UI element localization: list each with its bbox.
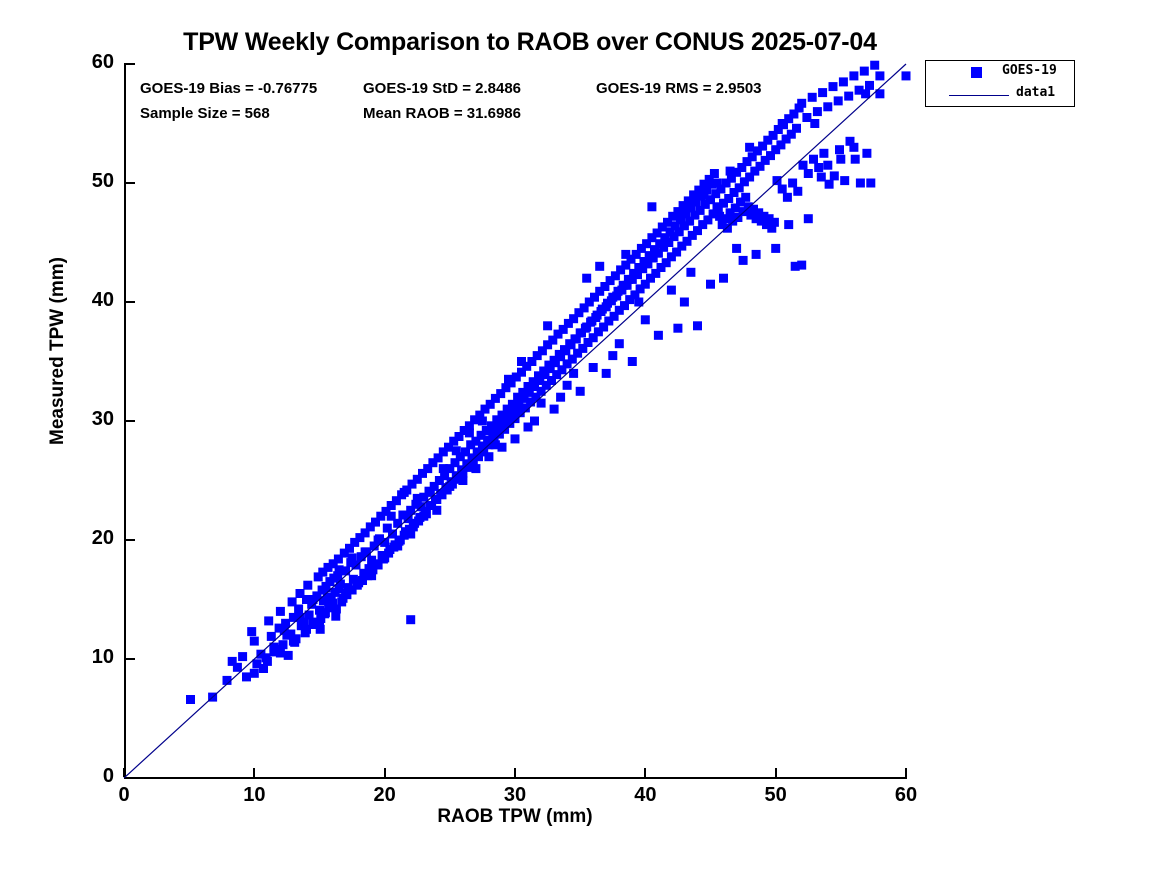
x-tick <box>775 768 777 777</box>
data-point <box>387 512 396 521</box>
data-point <box>686 268 695 277</box>
data-point <box>788 179 797 188</box>
data-point <box>367 571 376 580</box>
data-point <box>303 581 312 590</box>
x-tick <box>905 768 907 777</box>
data-point <box>840 176 849 185</box>
data-point <box>732 244 741 253</box>
data-point <box>284 651 293 660</box>
data-point <box>778 185 787 194</box>
y-tick <box>126 658 135 660</box>
data-point <box>813 107 822 116</box>
data-point <box>654 331 663 340</box>
data-point <box>673 324 682 333</box>
data-point <box>856 179 865 188</box>
data-point <box>752 250 761 259</box>
data-point <box>713 202 722 211</box>
data-point <box>834 96 843 105</box>
data-point <box>380 553 389 562</box>
data-point <box>478 417 487 426</box>
data-point <box>465 428 474 437</box>
data-point <box>276 607 285 616</box>
data-point <box>823 102 832 111</box>
data-point <box>693 321 702 330</box>
data-point <box>452 446 461 455</box>
data-point <box>628 357 637 366</box>
data-point <box>804 214 813 223</box>
data-point <box>263 657 272 666</box>
data-point <box>719 274 728 283</box>
legend: GOES-19 data1 <box>925 60 1075 107</box>
data-point <box>328 601 337 610</box>
data-point <box>238 652 247 661</box>
data-point <box>458 476 467 485</box>
y-tick-label: 40 <box>62 289 114 312</box>
y-tick-label: 10 <box>62 646 114 669</box>
data-point <box>247 627 256 636</box>
data-point <box>288 597 297 606</box>
legend-label-goes19: GOES-19 <box>1002 63 1057 78</box>
y-tick-label: 0 <box>62 765 114 788</box>
data-point <box>589 363 598 372</box>
data-point <box>595 262 604 271</box>
y-axis-label: Measured TPW (mm) <box>47 231 69 471</box>
data-point <box>341 589 350 598</box>
data-point <box>348 553 357 562</box>
scatter-series-goes19 <box>186 61 911 704</box>
legend-square-icon <box>971 67 982 78</box>
data-point <box>660 238 669 247</box>
data-point <box>279 640 288 649</box>
data-point <box>835 145 844 154</box>
data-point <box>830 171 839 180</box>
data-point <box>550 405 559 414</box>
data-point <box>791 262 800 271</box>
data-point <box>700 190 709 199</box>
x-tick-label: 60 <box>876 784 936 807</box>
y-tick-label: 30 <box>62 408 114 431</box>
data-point <box>621 250 630 259</box>
legend-entry-data1: data1 <box>926 83 1074 105</box>
data-point <box>302 625 311 634</box>
data-point <box>823 161 832 170</box>
data-point <box>866 179 875 188</box>
data-point <box>860 67 869 76</box>
x-tick-label: 30 <box>485 784 545 807</box>
data-point <box>802 113 811 122</box>
data-point <box>517 357 526 366</box>
data-point <box>602 369 611 378</box>
data-point <box>315 619 324 628</box>
chart-figure: TPW Weekly Comparison to RAOB over CONUS… <box>0 0 1167 875</box>
data-point <box>471 464 480 473</box>
reference-line-data1 <box>124 64 906 778</box>
data-point <box>228 657 237 666</box>
x-tick <box>644 768 646 777</box>
legend-line-icon <box>949 95 1009 96</box>
data-point <box>250 637 259 646</box>
data-point <box>792 124 801 133</box>
data-point <box>242 672 251 681</box>
data-point <box>836 155 845 164</box>
data-point <box>439 464 448 473</box>
data-point <box>484 452 493 461</box>
y-tick <box>126 63 135 65</box>
x-tick <box>384 768 386 777</box>
data-point <box>413 494 422 503</box>
data-point <box>710 169 719 178</box>
data-point <box>797 99 806 108</box>
y-tick <box>126 301 135 303</box>
data-point <box>543 321 552 330</box>
legend-entry-goes19: GOES-19 <box>926 61 1074 83</box>
data-point <box>809 155 818 164</box>
data-point <box>773 176 782 185</box>
data-point <box>563 381 572 390</box>
data-point <box>250 669 259 678</box>
y-tick-label: 50 <box>62 170 114 193</box>
data-point <box>186 695 195 704</box>
data-point <box>770 218 779 227</box>
data-point <box>354 577 363 586</box>
data-point <box>862 149 871 158</box>
y-tick <box>126 182 135 184</box>
data-point <box>808 93 817 102</box>
data-point <box>849 143 858 152</box>
data-point <box>870 61 879 70</box>
data-point <box>819 149 828 158</box>
x-axis-label: RAOB TPW (mm) <box>124 806 906 828</box>
x-tick-label: 20 <box>355 784 415 807</box>
data-point <box>799 161 808 170</box>
y-tick <box>126 539 135 541</box>
data-point <box>667 286 676 295</box>
data-point <box>875 71 884 80</box>
data-point <box>726 167 735 176</box>
data-point <box>739 256 748 265</box>
data-point <box>582 274 591 283</box>
data-point <box>778 119 787 128</box>
data-point <box>419 512 428 521</box>
x-tick-label: 50 <box>746 784 806 807</box>
data-point <box>504 375 513 384</box>
data-point <box>335 565 344 574</box>
data-point <box>331 612 340 621</box>
data-point <box>771 244 780 253</box>
data-point <box>865 81 874 90</box>
y-tick-label: 60 <box>62 51 114 74</box>
data-point <box>804 169 813 178</box>
y-tick <box>126 420 135 422</box>
data-point <box>817 173 826 182</box>
data-point <box>745 143 754 152</box>
data-point <box>861 89 870 98</box>
data-point <box>432 506 441 515</box>
plot-canvas <box>0 0 1167 875</box>
data-point <box>615 339 624 348</box>
x-tick-label: 40 <box>615 784 675 807</box>
data-point <box>851 155 860 164</box>
data-point <box>264 616 273 625</box>
data-point <box>641 315 650 324</box>
data-point <box>849 71 858 80</box>
x-tick-label: 10 <box>224 784 284 807</box>
x-tick <box>123 768 125 777</box>
data-point <box>406 530 415 539</box>
data-point <box>783 193 792 202</box>
data-point <box>713 179 722 188</box>
data-point <box>902 71 911 80</box>
data-point <box>839 77 848 86</box>
data-point <box>829 82 838 91</box>
x-tick <box>253 768 255 777</box>
data-point <box>400 488 409 497</box>
data-point <box>296 589 305 598</box>
data-point <box>647 202 656 211</box>
data-point <box>758 214 767 223</box>
data-point <box>267 632 276 641</box>
legend-label-data1: data1 <box>1016 85 1055 100</box>
data-point <box>530 417 539 426</box>
data-point <box>810 119 819 128</box>
data-point <box>556 393 565 402</box>
data-point <box>680 298 689 307</box>
data-point <box>825 180 834 189</box>
data-point <box>818 88 827 97</box>
data-point <box>406 615 415 624</box>
x-tick <box>514 768 516 777</box>
data-point <box>844 92 853 101</box>
data-point <box>706 280 715 289</box>
y-tick <box>126 777 135 779</box>
data-point <box>793 187 802 196</box>
data-point <box>608 351 617 360</box>
data-point <box>741 193 750 202</box>
y-tick-label: 20 <box>62 527 114 550</box>
data-point <box>784 220 793 229</box>
data-point <box>393 542 402 551</box>
data-point <box>576 387 585 396</box>
data-point <box>511 434 520 443</box>
data-point <box>814 163 823 172</box>
